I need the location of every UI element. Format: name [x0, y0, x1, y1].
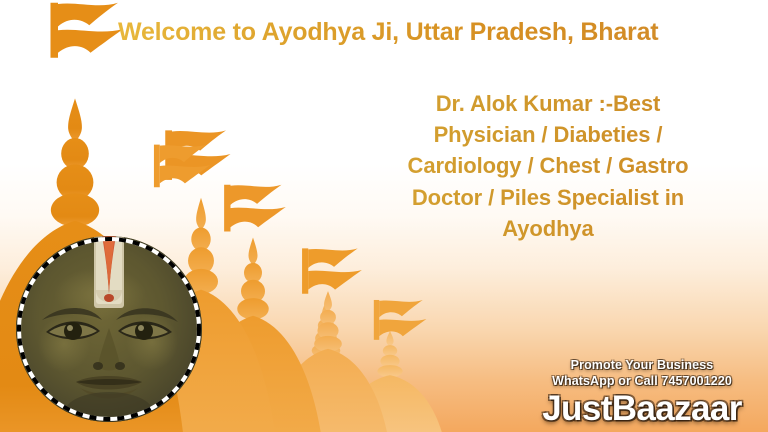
promo-line-1: Dr. Alok Kumar :-Best: [338, 88, 758, 119]
promo-cta-line-1: Promote Your Business: [524, 357, 760, 373]
promo-line-3: Cardiology / Chest / Gastro: [338, 150, 758, 181]
deity-portrait: [16, 236, 202, 422]
promo-description: Dr. Alok Kumar :-Best Physician / Diabet…: [338, 88, 758, 244]
promo-line-4: Doctor / Piles Specialist in: [338, 182, 758, 213]
promo-line-2: Physician / Diabeties /: [338, 119, 758, 150]
flag-pennant-icon-1: [51, 3, 124, 58]
justbaazaar-logo[interactable]: JustBaazaar: [524, 390, 760, 428]
page-title: Welcome to Ayodhya Ji, Uttar Pradesh, Bh…: [118, 18, 738, 47]
flag-pennant-icon-4: [302, 248, 362, 293]
brand-block[interactable]: Promote Your Business WhatsApp or Call 7…: [524, 357, 760, 428]
promo-line-5: Ayodhya: [338, 213, 758, 244]
deity-portrait-image: [16, 236, 202, 422]
flag-pennant-icon-6: [374, 300, 427, 340]
promo-banner: Welcome to Ayodhya Ji, Uttar Pradesh, Bh…: [0, 0, 768, 432]
flag-pennant-icon-3: [224, 185, 286, 232]
promo-cta-line-2: WhatsApp or Call 7457001220: [524, 373, 760, 389]
